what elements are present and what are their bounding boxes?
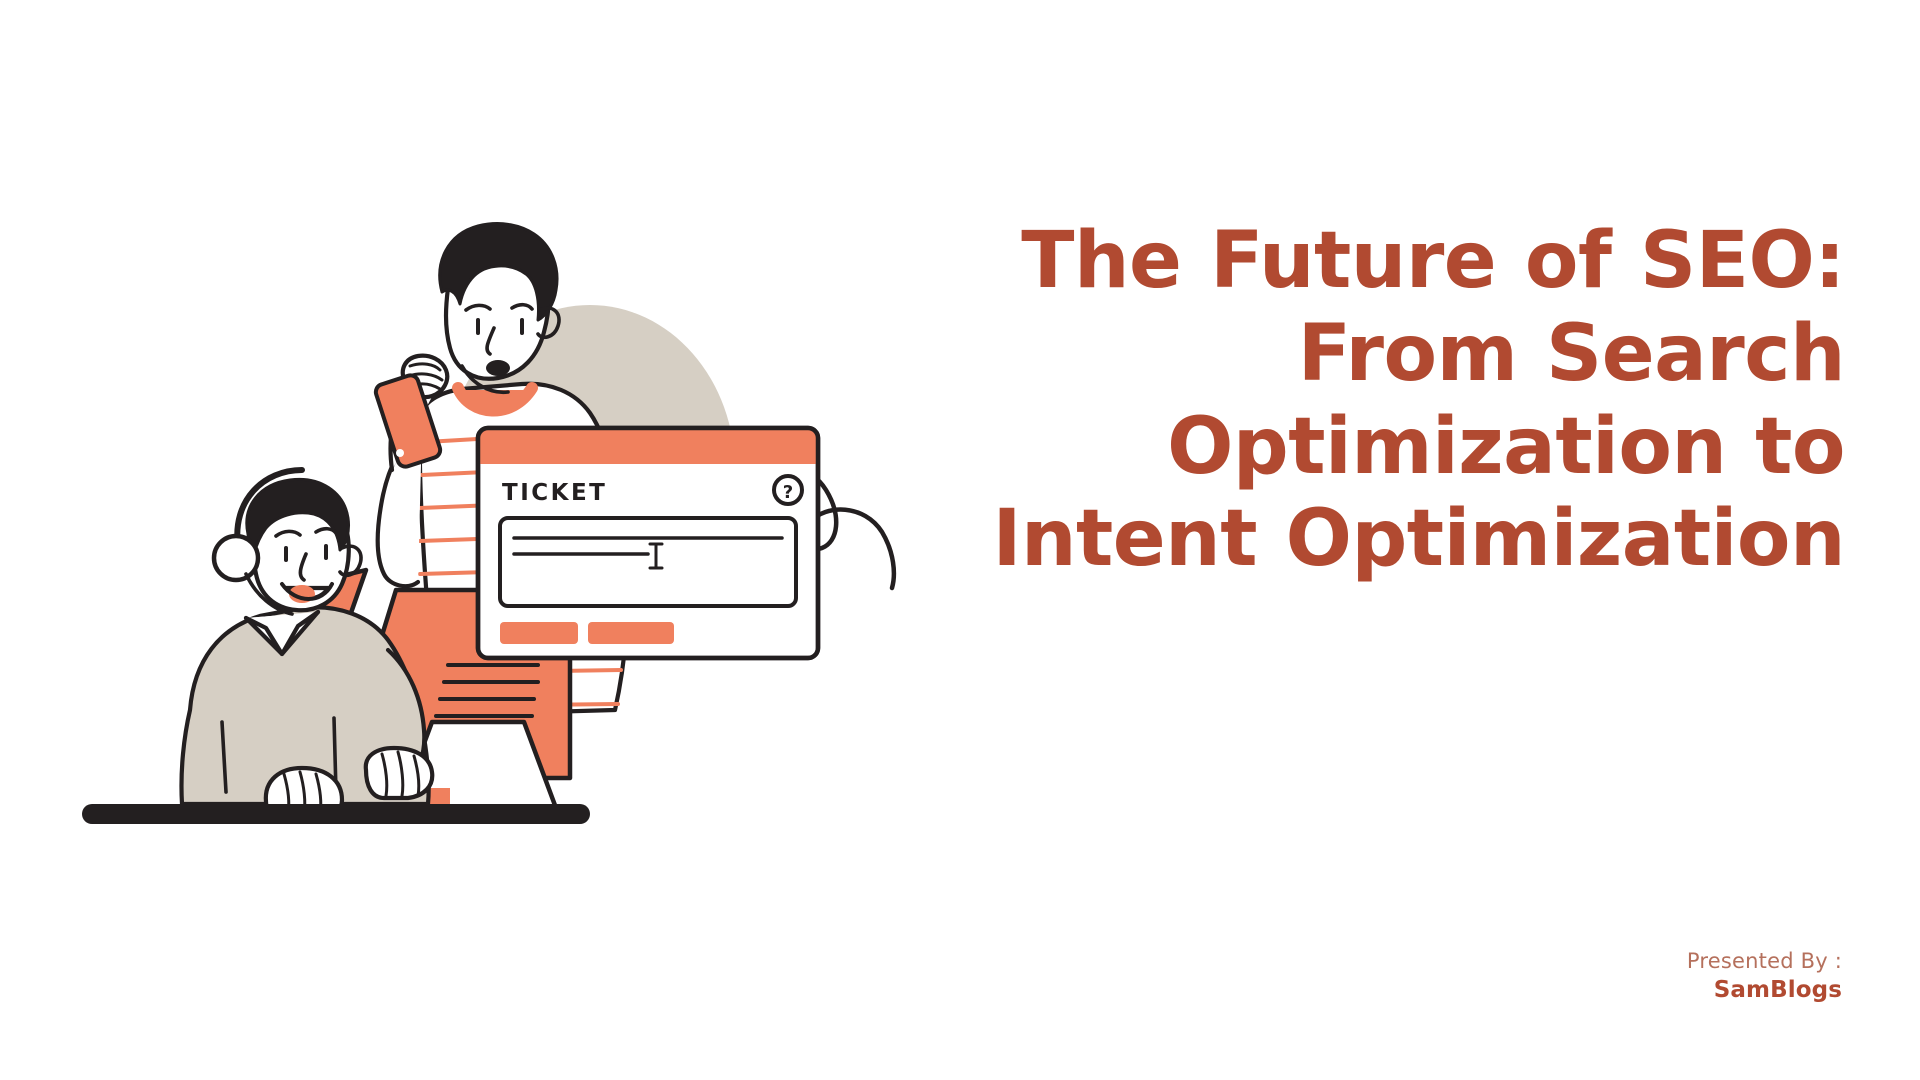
- title-block: The Future of SEO: From Search Optimizat…: [985, 215, 1845, 586]
- presenter-credit: Presented By : SamBlogs: [1687, 948, 1842, 1006]
- ticket-input-field: [500, 518, 796, 606]
- presenter-name: SamBlogs: [1687, 976, 1842, 1006]
- ticket-window: TICKET ?: [478, 428, 818, 658]
- presentation-slide: TICKET ?: [0, 0, 1920, 1080]
- presented-by-label: Presented By :: [1687, 948, 1842, 974]
- ticket-button-primary: [500, 622, 578, 644]
- svg-text:?: ?: [783, 482, 793, 503]
- headset-earcup: [214, 536, 258, 580]
- page-title: The Future of SEO: From Search Optimizat…: [985, 215, 1845, 586]
- desk-bar: [82, 804, 590, 824]
- ticket-heading: TICKET: [502, 480, 607, 506]
- ticket-button-secondary: [588, 622, 674, 644]
- customer-support-illustration: TICKET ?: [70, 170, 1070, 870]
